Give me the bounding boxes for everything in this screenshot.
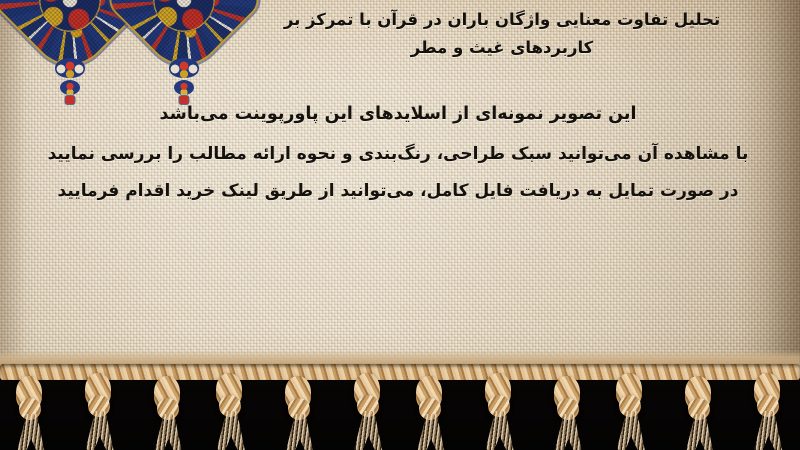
tassel-skirt — [83, 411, 115, 450]
fringe-tassel — [477, 373, 523, 450]
tassel-skirt — [483, 411, 515, 450]
tassel-skirt — [152, 414, 184, 450]
tassel-skirt — [552, 414, 584, 450]
fringe-tassel — [8, 376, 54, 450]
tassel-skirt — [214, 411, 246, 450]
persian-carpet-medallion-left-icon — [14, 0, 126, 56]
body-line-purchase-link: در صورت تمایل به دریافت فایل کامل، می‌تو… — [18, 183, 778, 200]
fringe-tassel — [546, 376, 592, 450]
tassel-skirt — [414, 414, 446, 450]
slide-title: تحلیل تفاوت معنایی واژگان باران در قرآن … — [232, 6, 772, 63]
body-line-design-review: با مشاهده آن می‌توانید سبک طراحی، رنگ‌بن… — [18, 146, 778, 163]
fringe-tassel — [277, 376, 323, 450]
tassel-skirt — [614, 411, 646, 450]
medallion-pendant-small — [60, 80, 80, 95]
medallion-pendant-large — [169, 58, 199, 78]
slide-title-line-2: کاربردهای غیث و مطر — [232, 34, 772, 62]
body-line-sample-notice: این تصویر نمونه‌ای از اسلایدهای این پاور… — [18, 106, 778, 124]
fringe-tassel — [677, 376, 723, 450]
fringe-tassel — [408, 376, 454, 450]
medallion-pendant-tip — [66, 96, 75, 104]
slide-body: این تصویر نمونه‌ای از اسلایدهای این پاور… — [18, 106, 778, 200]
persian-carpet-medallion-right-icon — [128, 0, 240, 56]
fringe-tassel — [77, 373, 123, 450]
tassel-skirt — [14, 414, 46, 450]
medallion-pendant-tip — [180, 96, 189, 104]
tassel-skirt — [283, 414, 315, 450]
tassel-skirt — [752, 411, 784, 450]
tassel-skirt — [683, 414, 715, 450]
medallion-pendant-small — [174, 80, 194, 95]
medallion-pendant-large — [55, 58, 85, 78]
fringe-tassel — [346, 373, 392, 450]
fringe-tassel — [146, 376, 192, 450]
fringe-tassel — [208, 373, 254, 450]
fringe-tassel — [746, 373, 792, 450]
bottom-black-band — [0, 366, 800, 450]
fringe-tassel — [608, 373, 654, 450]
slide-title-line-1: تحلیل تفاوت معنایی واژگان باران در قرآن … — [232, 6, 772, 34]
presentation-slide: تحلیل تفاوت معنایی واژگان باران در قرآن … — [0, 0, 800, 450]
tassel-skirt — [352, 411, 384, 450]
